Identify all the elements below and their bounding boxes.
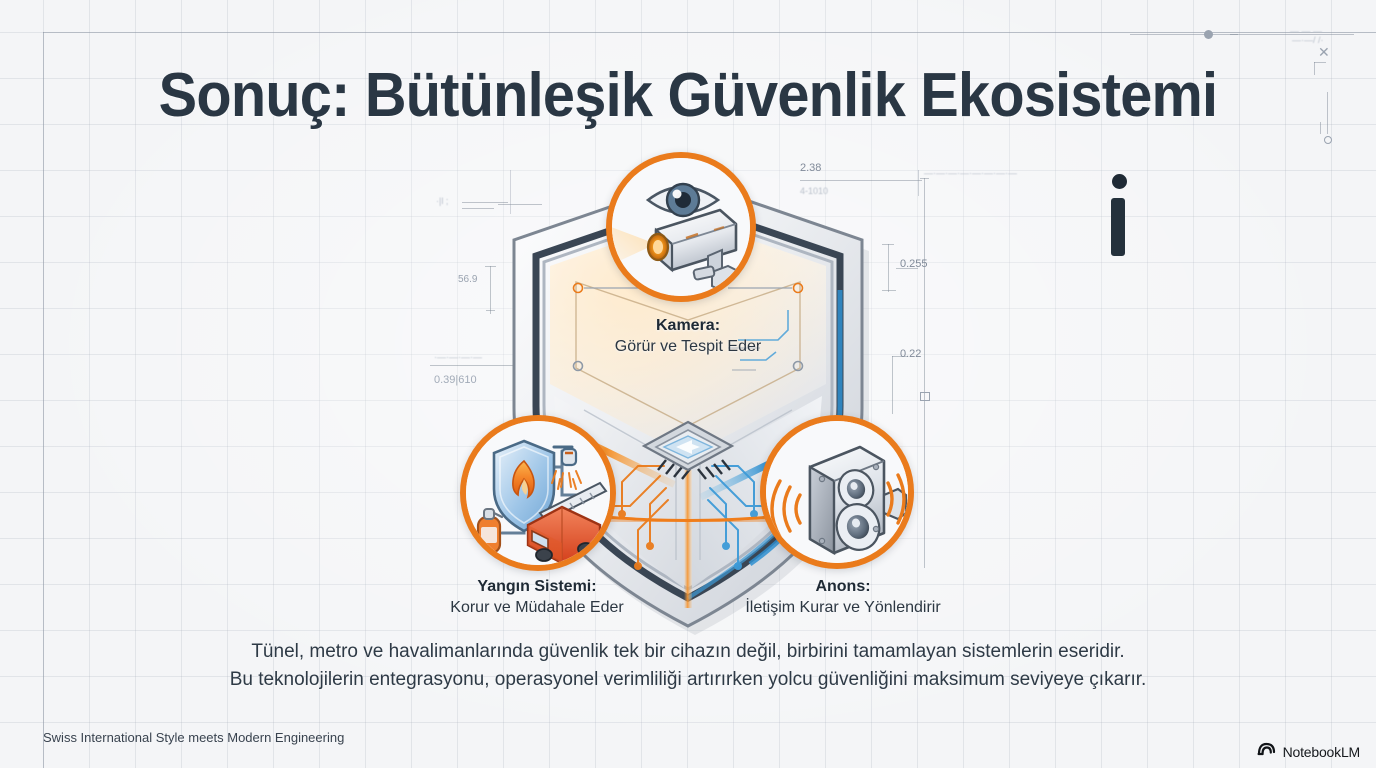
label-fire-system: Yangın Sistemi: Korur ve Müdahale Eder <box>405 577 669 618</box>
ecosystem-diagram <box>416 140 960 640</box>
label-camera-subtitle: Görür ve Tespit Eder <box>538 336 838 357</box>
summary-line-1: Tünel, metro ve havalimanlarında güvenli… <box>0 638 1376 666</box>
node-fire-system[interactable] <box>460 415 616 571</box>
frame-line-horizontal <box>43 32 1376 33</box>
fire-shield-truck-sprinkler-icon <box>466 421 610 565</box>
summary-line-2: Bu teknolojilerin entegrasyonu, operasyo… <box>0 666 1376 694</box>
label-fire-subtitle: Korur ve Müdahale Eder <box>405 597 669 618</box>
page-title: Sonuç: Bütünleşik Güvenlik Ekosistemi <box>48 60 1328 132</box>
label-camera-title: Kamera: <box>538 316 838 336</box>
notebooklm-brand: NotebookLM <box>1257 741 1360 762</box>
summary-paragraph: Tünel, metro ve havalimanlarında güvenli… <box>0 638 1376 694</box>
label-camera: Kamera: Görür ve Tespit Eder <box>538 316 838 357</box>
label-anons-subtitle: İletişim Kurar ve Yönlendirir <box>705 597 981 618</box>
node-camera[interactable] <box>606 152 756 302</box>
pa-speaker-icon <box>766 421 908 563</box>
label-anons-title: Anons: <box>705 577 981 597</box>
cctv-camera-eye-icon <box>612 158 750 296</box>
footer-note: Swiss International Style meets Modern E… <box>43 730 344 745</box>
notebooklm-logo-icon <box>1257 741 1277 762</box>
label-announcement: Anons: İletişim Kurar ve Yönlendirir <box>705 577 981 618</box>
node-announcement[interactable] <box>760 415 914 569</box>
slide-canvas: — — — —·—/ /· ✕ ·|l ; 56.9 ·—·—·—·— 0.39… <box>0 0 1376 768</box>
label-fire-title: Yangın Sistemi: <box>405 577 669 597</box>
notebooklm-brand-text: NotebookLM <box>1283 744 1360 760</box>
